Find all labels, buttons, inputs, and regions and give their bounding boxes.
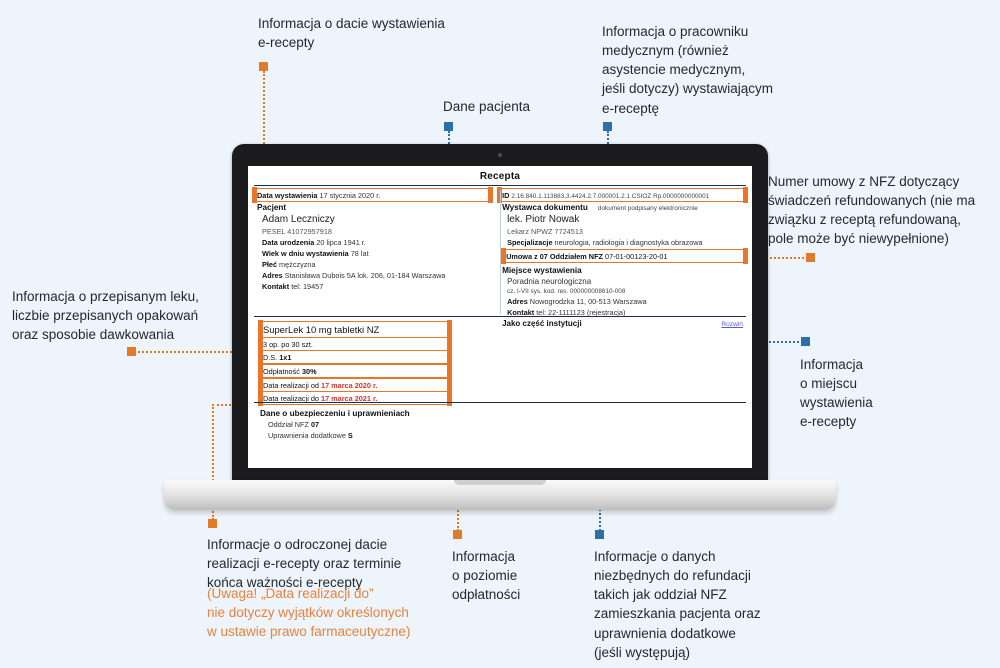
issuer-npwz-value: 7724513 xyxy=(555,227,583,236)
issue-date-label: Data wystawienia xyxy=(257,191,317,200)
prescription-document: Recepta Data wystawienia 17 stycznia 202… xyxy=(248,166,752,468)
section-divider-medicine xyxy=(254,316,746,317)
nfz-contract-label: Umowa z 07 Oddziałem NFZ xyxy=(506,252,603,261)
nfz-contract-field: Umowa z 07 Oddziałem NFZ 07-01-00123-20-… xyxy=(503,250,746,262)
place-code-line: cz. I-VII sys. kod. res. 000000008610-00… xyxy=(499,287,746,296)
issuer-heading-row: Wystawca dokumentu dokument podpisany el… xyxy=(499,201,746,213)
patient-pesel-label: PESEL xyxy=(262,227,285,236)
section-divider-insurance xyxy=(254,402,746,403)
patient-sex: Płeć mężczyzna xyxy=(254,259,491,270)
annotation-realization-warning: (Uwaga! „Data realizacji do” nie dotyczy… xyxy=(207,584,477,641)
issuer-name: lek. Piotr Nowak xyxy=(499,213,746,226)
patient-contact: Kontakt tel: 19457 xyxy=(254,281,491,292)
connector-square-refund xyxy=(595,530,604,539)
annotation-nfz-contract: Numer umowy z NFZ dotyczący świadczeń re… xyxy=(768,172,1000,249)
institution-label: Jako część instytucji xyxy=(502,319,582,328)
place-heading: Miejsce wystawienia xyxy=(499,264,746,276)
annotation-issue-date: Informacja o dacie wystawienia e-recepty xyxy=(258,14,498,52)
place-address-value: Nowogrodzka 11, 00-513 Warszawa xyxy=(530,297,647,306)
document-id-label: ID xyxy=(502,191,509,200)
insurance-rights-label: Uprawnienia dodatkowe xyxy=(268,431,346,440)
insurance-block: Dane o ubezpieczeniu i uprawnieniach Odd… xyxy=(260,407,560,441)
patient-birth-value: 20 lipca 1941 r. xyxy=(316,238,366,247)
connector-square-issue-date xyxy=(259,62,268,71)
expand-link[interactable]: Rozwiń xyxy=(721,321,743,328)
patient-pesel-value: 41072957918 xyxy=(287,227,332,236)
medicine-block: SuperLek 10 mg tabletki NZ 3 op. po 30 s… xyxy=(260,322,450,404)
issuer-npwz: Lekarz NPWZ 7724513 xyxy=(499,226,746,237)
medicine-payment-value: 30% xyxy=(302,367,317,376)
connector-square-patient-data xyxy=(444,122,453,131)
issuer-npwz-label: Lekarz NPWZ xyxy=(507,227,552,236)
patient-sex-value: mężczyzna xyxy=(279,260,316,269)
annotation-medicine: Informacja o przepisanym leku, liczbie p… xyxy=(12,287,262,344)
patient-pesel: PESEL 41072957918 xyxy=(254,226,491,237)
connector-square-realization xyxy=(208,519,217,528)
insurance-nfz-label: Oddział NFZ xyxy=(268,420,309,429)
issuer-spec: Specjalizacje neurologia, radiologia i d… xyxy=(499,237,746,248)
document-id-value: 2.16.840.1.113883.3.4424.2.7.000001.2.1 … xyxy=(511,193,709,200)
patient-contact-label: Kontakt xyxy=(262,282,289,291)
place-address-label: Adres xyxy=(507,297,528,306)
patient-address-value: Stanisława Dubois 5A lok. 206, 01-184 Wa… xyxy=(285,271,446,280)
document-title: Recepta xyxy=(254,171,746,182)
patient-sex-label: Płeć xyxy=(262,260,277,269)
annotation-place: Informacja o miejscu wystawienia e-recep… xyxy=(800,355,950,432)
patient-birth-label: Data urodzenia xyxy=(262,238,314,247)
medicine-packages-field: 3 op. po 30 szt. xyxy=(260,338,450,350)
medicine-date-from-label: Data realizacji od xyxy=(263,381,319,390)
nfz-contract-value: 07-01-00123-20-01 xyxy=(605,252,667,261)
column-left: Data wystawienia 17 stycznia 2020 r. Pac… xyxy=(254,186,495,329)
insurance-heading: Dane o ubezpieczeniu i uprawnieniach xyxy=(260,407,560,419)
laptop-screen: Recepta Data wystawienia 17 stycznia 202… xyxy=(248,166,752,468)
medicine-name: SuperLek 10 mg tabletki NZ xyxy=(263,324,379,335)
medicine-date-from-field: Data realizacji od 17 marca 2020 r. xyxy=(260,379,450,391)
medicine-ds-value: 1x1 xyxy=(279,353,291,362)
insurance-nfz: Oddział NFZ 07 xyxy=(260,419,560,430)
issuer-signed-note: dokument podpisany elektronicznie xyxy=(598,205,698,212)
laptop-mockup: Recepta Data wystawienia 17 stycznia 202… xyxy=(232,144,768,496)
patient-age-label: Wiek w dniu wystawienia xyxy=(262,249,349,258)
medicine-name-field: SuperLek 10 mg tabletki NZ xyxy=(260,322,450,337)
patient-heading: Pacjent xyxy=(254,201,491,213)
medicine-packages: 3 op. po 30 szt. xyxy=(263,340,313,349)
laptop-lid: Recepta Data wystawienia 17 stycznia 202… xyxy=(232,144,768,484)
column-divider xyxy=(500,190,501,314)
issuer-spec-value: neurologia, radiologia i diagnostyka obr… xyxy=(555,238,703,247)
place-address: Adres Nowogrodzka 11, 00-513 Warszawa xyxy=(499,296,746,307)
insurance-rights-value: S xyxy=(348,431,353,440)
issuer-spec-label: Specjalizacje xyxy=(507,238,552,247)
medicine-ds-label: D.S. xyxy=(263,353,277,362)
issuer-heading: Wystawca dokumentu xyxy=(502,203,588,212)
patient-contact-value: tel: 19457 xyxy=(291,282,323,291)
patient-address-label: Adres xyxy=(262,271,283,280)
patient-age-value: 78 lat xyxy=(351,249,369,258)
medicine-ds-field: D.S. 1x1 xyxy=(260,351,450,363)
webcam-icon xyxy=(498,153,502,157)
annotation-refund-data: Informacje o danych niezbędnych do refun… xyxy=(594,547,824,662)
issue-date-field: Data wystawienia 17 stycznia 2020 r. xyxy=(254,189,491,201)
insurance-nfz-value: 07 xyxy=(311,420,319,429)
patient-age: Wiek w dniu wystawienia 78 lat xyxy=(254,248,491,259)
medicine-payment-label: Odpłatność xyxy=(263,367,300,376)
institution-row: Jako część instytucji Rozwiń xyxy=(499,318,746,329)
medicine-payment-field: Odpłatność 30% xyxy=(260,365,450,377)
annotation-patient-data: Dane pacjenta xyxy=(443,97,603,116)
issue-date-value: 17 stycznia 2020 r. xyxy=(319,191,380,200)
insurance-rights: Uprawnienia dodatkowe S xyxy=(260,430,560,441)
annotation-payment-level: Informacja o poziomie odpłatności xyxy=(452,547,582,604)
patient-address: Adres Stanisława Dubois 5A lok. 206, 01-… xyxy=(254,270,491,281)
patient-name: Adam Leczniczy xyxy=(254,213,491,226)
annotation-practitioner: Informacja o pracowniku medycznym (równi… xyxy=(602,22,822,118)
place-name: Poradnia neurologiczna xyxy=(499,276,746,287)
connector-square-practitioner xyxy=(603,122,612,131)
document-id-field: ID 2.16.840.1.113883.3.4424.2.7.000001.2… xyxy=(499,189,746,201)
patient-birth: Data urodzenia 20 lipca 1941 r. xyxy=(254,237,491,248)
laptop-notch xyxy=(454,480,546,485)
connector-square-payment xyxy=(453,530,462,539)
column-right: ID 2.16.840.1.113883.3.4424.2.7.000001.2… xyxy=(495,186,746,329)
medicine-date-from-value: 17 marca 2020 r. xyxy=(321,381,377,390)
